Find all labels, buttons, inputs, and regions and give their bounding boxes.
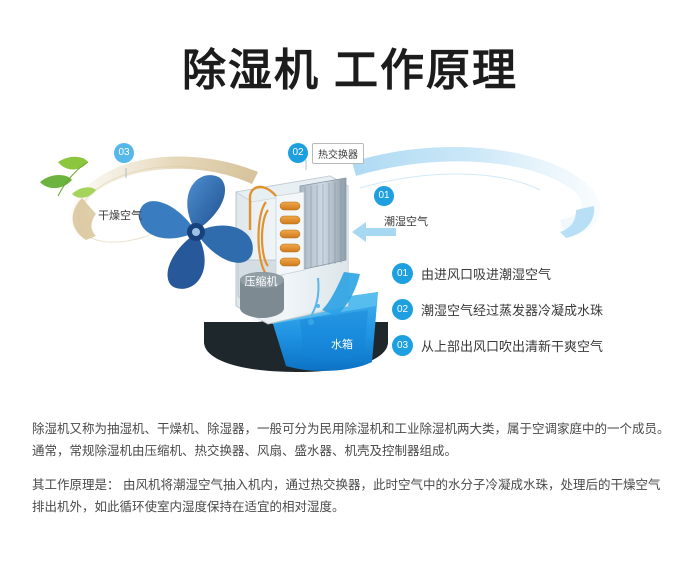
- page-title-main: 除湿机: [182, 46, 320, 95]
- legend-text-02: 潮湿空气经过蒸发器冷凝成水珠: [421, 300, 603, 319]
- label-dry-air: 干燥空气: [98, 207, 142, 223]
- description-paragraph-2: 其工作原理是： 由风机将潮湿空气抽入机内，通过热交换器，此时空气中的水分子冷凝成…: [32, 474, 672, 518]
- legend-item: 01 由进风口吸进潮湿空气: [392, 255, 692, 291]
- label-heat-exchanger: 热交换器: [312, 143, 364, 164]
- legend-text-03: 从上部出风口吹出清新干爽空气: [421, 336, 603, 355]
- description-p2-line2: 排出机外，如此循环使室内湿度保持在适宜的相对湿度。: [32, 500, 345, 514]
- evaporator-fins: [300, 178, 346, 270]
- legend-badge-02: 02: [392, 299, 413, 320]
- description-block: 除湿机又称为抽湿机、干燥机、除湿器，一般可分为民用除湿机和工业除湿机两大类，属于…: [32, 418, 672, 526]
- description-p1-line1: 除湿机又称为抽湿机、干燥机、除湿器，一般可分为民用除湿机和工业除湿机两大类，属于…: [32, 422, 670, 436]
- description-p2-line1: 其工作原理是： 由风机将潮湿空气抽入机内，通过热交换器，此时空气中的水分子冷凝成…: [32, 478, 660, 492]
- legend-item: 02 潮湿空气经过蒸发器冷凝成水珠: [392, 291, 692, 327]
- label-humid-air: 潮湿空气: [384, 213, 428, 229]
- badge-02-heat-exchanger: 02: [288, 143, 308, 163]
- description-paragraph-1: 除湿机又称为抽湿机、干燥机、除湿器，一般可分为民用除湿机和工业除湿机两大类，属于…: [32, 418, 672, 462]
- label-compressor: 压缩机: [238, 273, 284, 289]
- legend-badge-03: 03: [392, 335, 413, 356]
- legend-item: 03 从上部出风口吹出清新干爽空气: [392, 327, 692, 363]
- page-title: 除湿机工作原理: [0, 34, 700, 98]
- legend-badge-01: 01: [392, 263, 413, 284]
- description-p1-line2: 通常，常规除湿机由压缩机、热交换器、风扇、盛水器、机壳及控制器组成。: [32, 444, 457, 458]
- badge-03-dry-air: 03: [114, 143, 134, 163]
- steps-legend: 01 由进风口吸进潮湿空气 02 潮湿空气经过蒸发器冷凝成水珠 03 从上部出风…: [392, 255, 692, 363]
- leaf-icon: [40, 157, 96, 198]
- label-water-tank: 水箱: [320, 336, 364, 352]
- page-title-sub: 工作原理: [334, 46, 518, 95]
- legend-text-01: 由进风口吸进潮湿空气: [421, 264, 551, 283]
- badge-01-humid-air: 01: [374, 186, 394, 206]
